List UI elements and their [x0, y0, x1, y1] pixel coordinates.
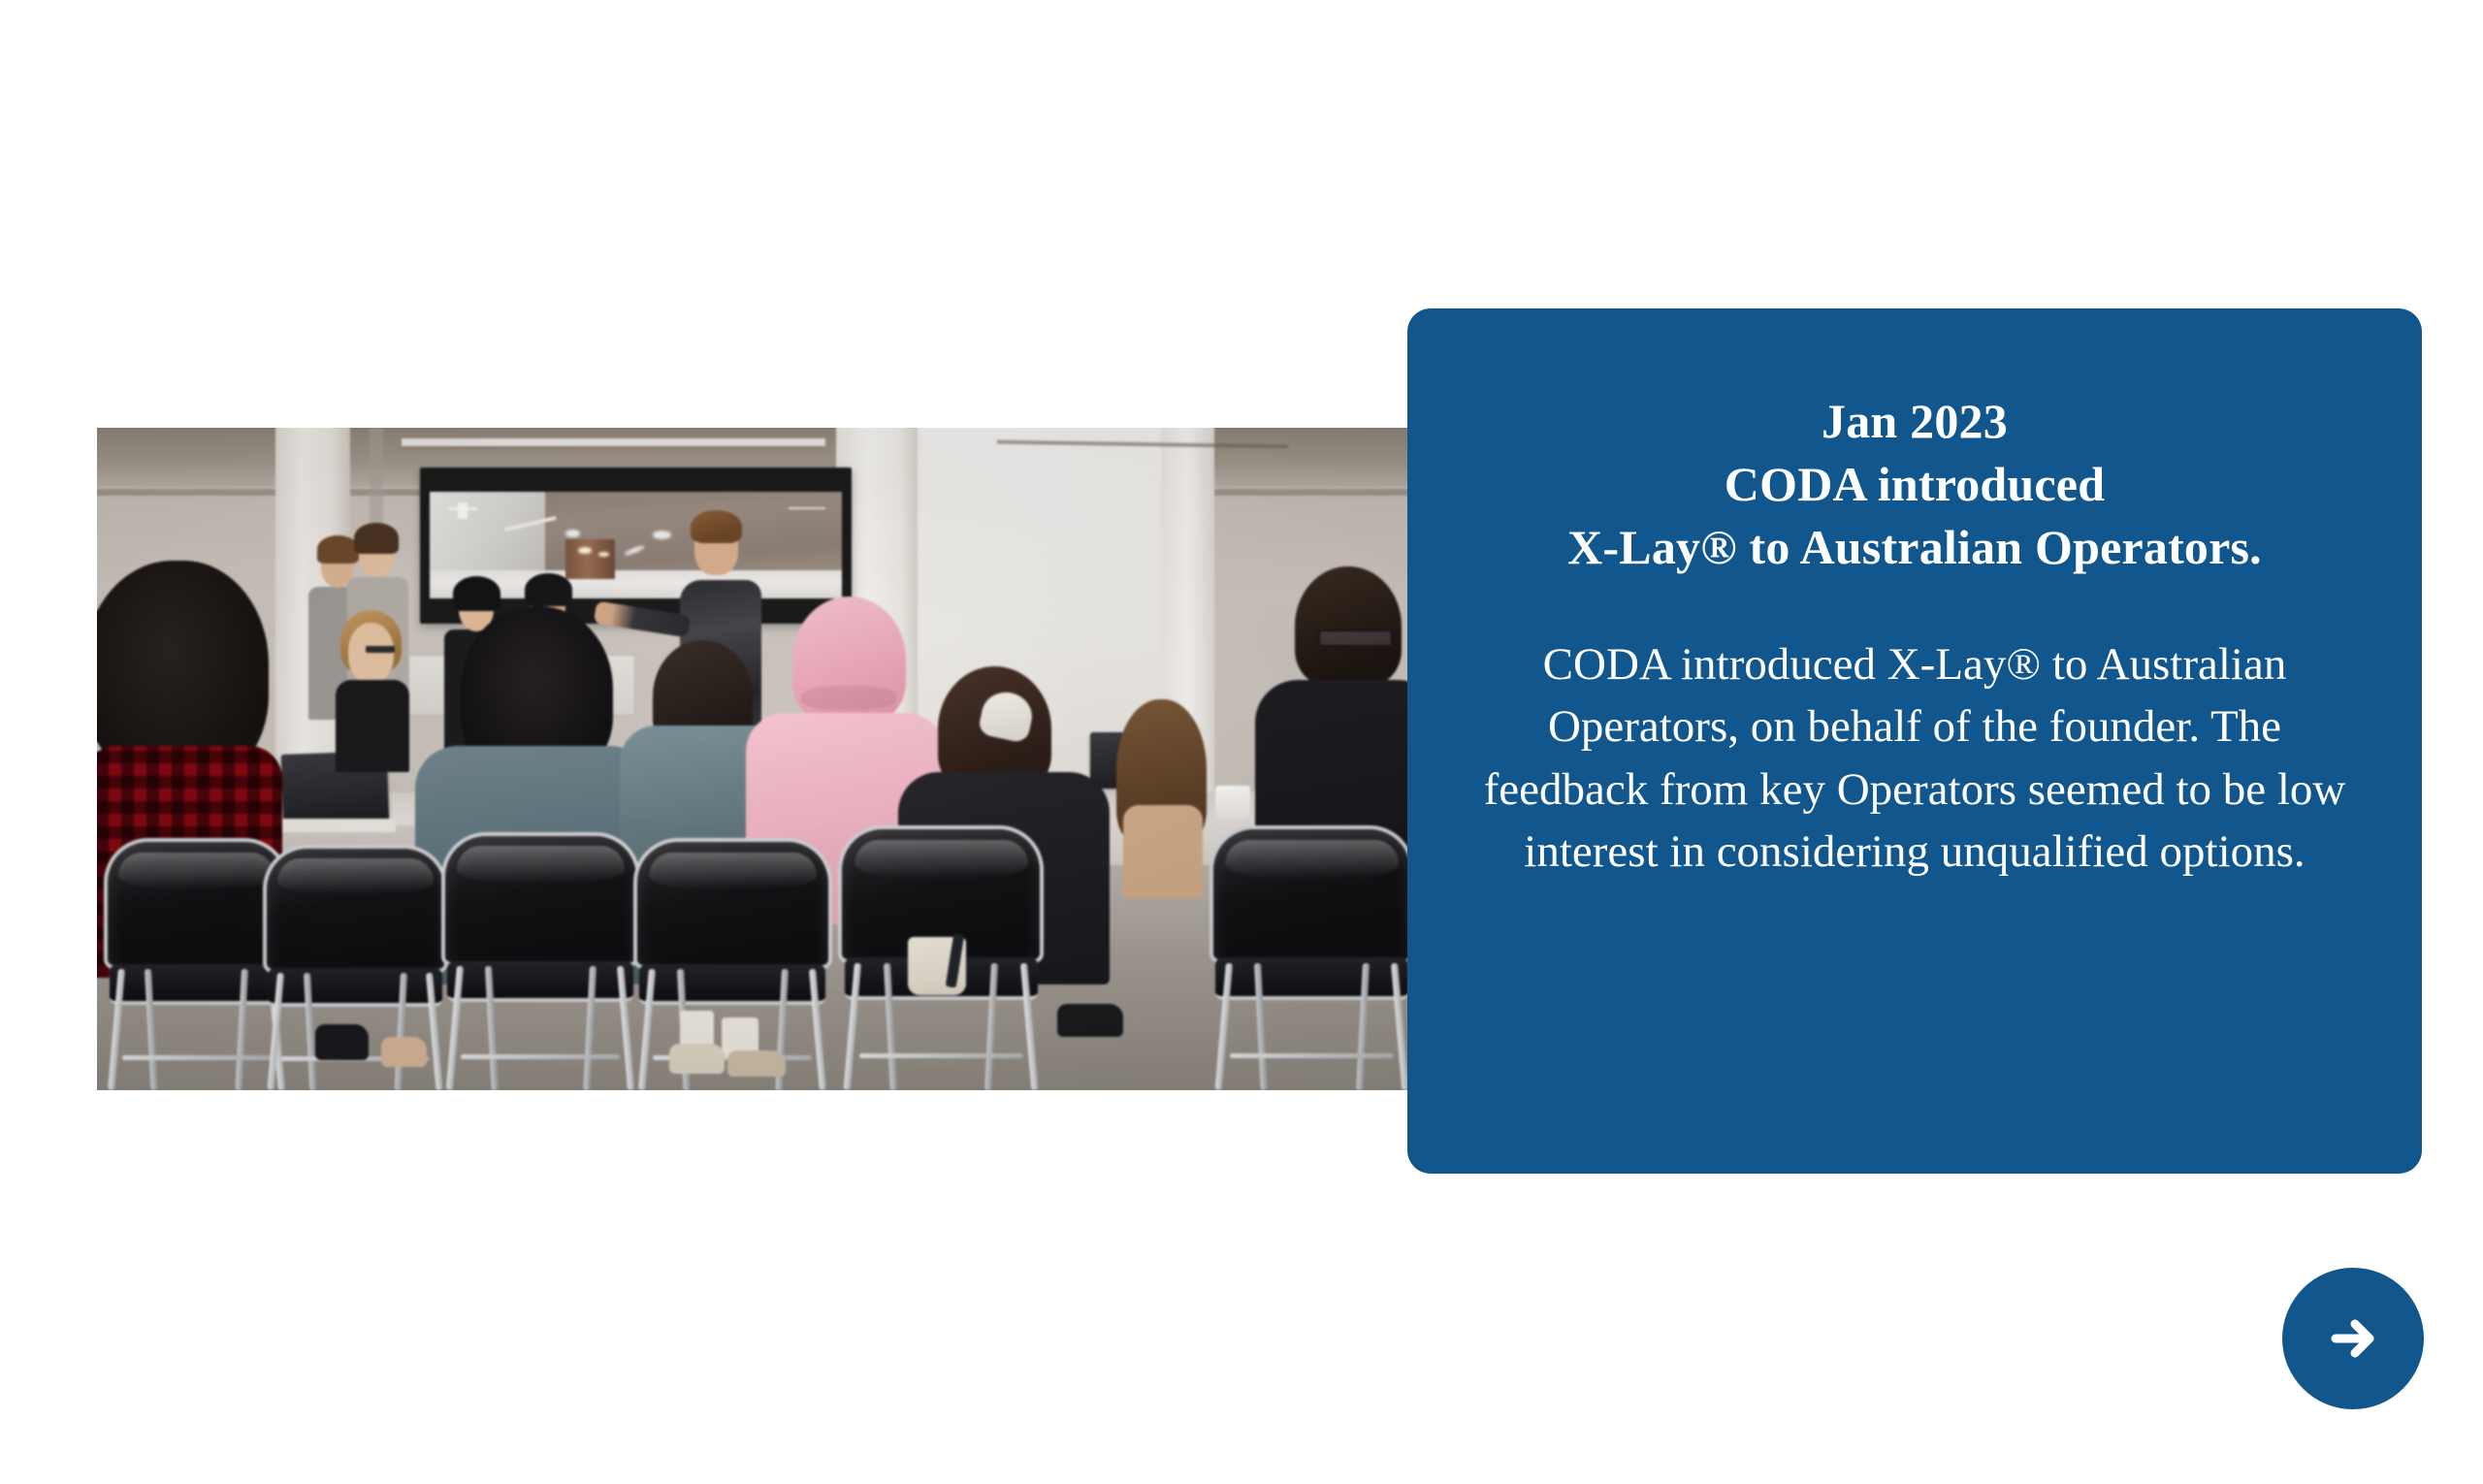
chair-backrest [104, 838, 289, 969]
classroom-presentation-photo [97, 428, 1421, 1090]
next-slide-button[interactable] [2282, 1268, 2424, 1409]
screen-candle-flame-1 [578, 547, 592, 554]
presenter-hair [691, 510, 742, 543]
shoe-2 [381, 1037, 426, 1067]
screen-cross-horiz [448, 507, 477, 510]
chair-seat [639, 964, 825, 1005]
folding-chair-6 [1209, 825, 1415, 1090]
screen-cross-vert [458, 502, 467, 520]
screen-light-strip [789, 507, 825, 509]
attendee-g-body [1123, 805, 1203, 898]
chair-seat [1215, 957, 1408, 1000]
folding-chair-5 [838, 825, 1044, 1090]
screen-candle [565, 539, 615, 579]
attendee-b-body [336, 680, 409, 773]
chair-rung [122, 1055, 271, 1060]
standing-person-2-hair [354, 523, 399, 553]
chair-rung [859, 1053, 1023, 1058]
photo-scene [97, 428, 1421, 1090]
screen-candle-flame-2 [598, 552, 609, 558]
chair-backrest [441, 832, 640, 967]
chair-sheen [118, 853, 274, 889]
shoe-3 [669, 1044, 725, 1074]
arrow-right-icon [2318, 1304, 2388, 1373]
attendee-h-hair [1295, 566, 1401, 686]
shoe-5 [1057, 1004, 1123, 1037]
chair-rung [1230, 1053, 1394, 1058]
attendee-b-glasses [366, 646, 395, 652]
attendee-e-beanie-fold [801, 686, 896, 710]
ceiling-strip [402, 438, 825, 446]
screen-highlight-1 [565, 530, 580, 537]
laptop-1-base [272, 819, 396, 832]
chair-sheen [1225, 840, 1399, 879]
chair-sheen [277, 858, 434, 894]
folding-chair-1 [104, 838, 289, 1090]
chair-backrest [633, 838, 832, 969]
milestone-text-card: Jan 2023 CODA introduced X-Lay® to Austr… [1407, 308, 2422, 1174]
screen-highlight-3 [624, 544, 645, 557]
standing-person-1-hair [317, 535, 360, 564]
shoe-4 [727, 1050, 786, 1077]
chair-backrest [1209, 825, 1415, 963]
chair-seat [268, 968, 442, 1007]
slide-canvas: Jan 2023 CODA introduced X-Lay® to Austr… [0, 0, 2483, 1484]
shoe-1 [315, 1024, 369, 1061]
chair-rung [461, 1054, 620, 1059]
attendee-b-head [348, 623, 393, 682]
milestone-body-text: CODA introduced X-Lay® to Australian Ope… [1462, 633, 2368, 884]
screen-highlight-2 [653, 531, 672, 539]
chair-seat [110, 964, 284, 1005]
chair-seat [447, 961, 633, 1003]
chair-sheen [855, 840, 1028, 879]
glass-1 [1215, 786, 1249, 819]
standing-person-3-hair [453, 576, 500, 611]
standing-person-4-hair [525, 573, 572, 606]
chair-backrest [263, 845, 448, 972]
chair-sheen [649, 853, 817, 889]
milestone-heading: Jan 2023 CODA introduced X-Lay® to Austr… [1462, 390, 2368, 579]
folding-chair-3 [441, 832, 640, 1090]
chair-sheen [457, 846, 625, 884]
attendee-h-glasses [1318, 629, 1394, 647]
